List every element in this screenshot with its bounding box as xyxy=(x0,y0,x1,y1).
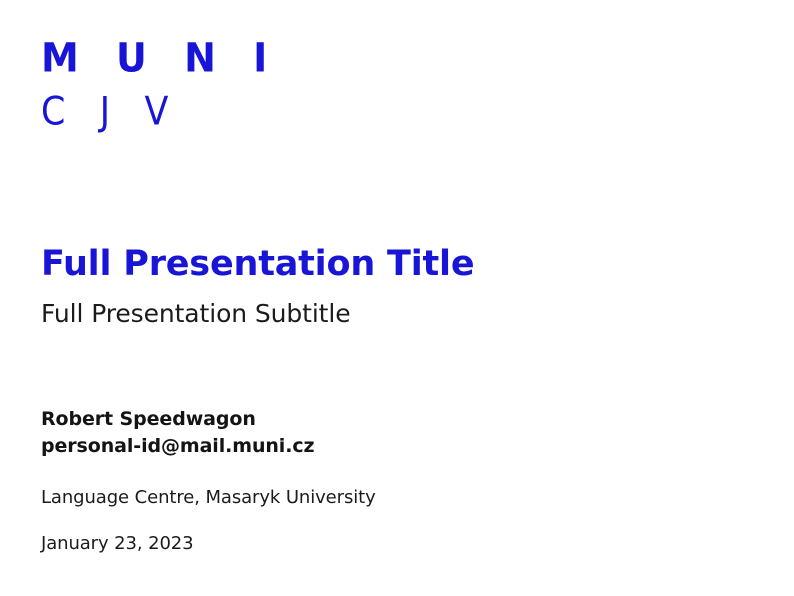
author-meta-block: Robert Speedwagon personal-id@mail.muni.… xyxy=(41,406,741,556)
author-name: Robert Speedwagon xyxy=(41,406,741,433)
presentation-subtitle: Full Presentation Subtitle xyxy=(41,299,741,329)
title-block: Full Presentation Title Full Presentatio… xyxy=(41,244,741,329)
logo-muni-wordmark: M U N I xyxy=(41,38,301,80)
presentation-date: January 23, 2023 xyxy=(41,532,741,555)
author-email: personal-id@mail.muni.cz xyxy=(41,433,741,460)
author-affiliation: Language Centre, Masaryk University xyxy=(41,486,741,509)
presentation-title-slide: M U N I C J V Full Presentation Title Fu… xyxy=(0,0,794,596)
muni-cjv-logo: M U N I C J V xyxy=(41,38,301,130)
logo-cjv-wordmark: C J V xyxy=(41,92,293,133)
presentation-title: Full Presentation Title xyxy=(41,244,741,285)
